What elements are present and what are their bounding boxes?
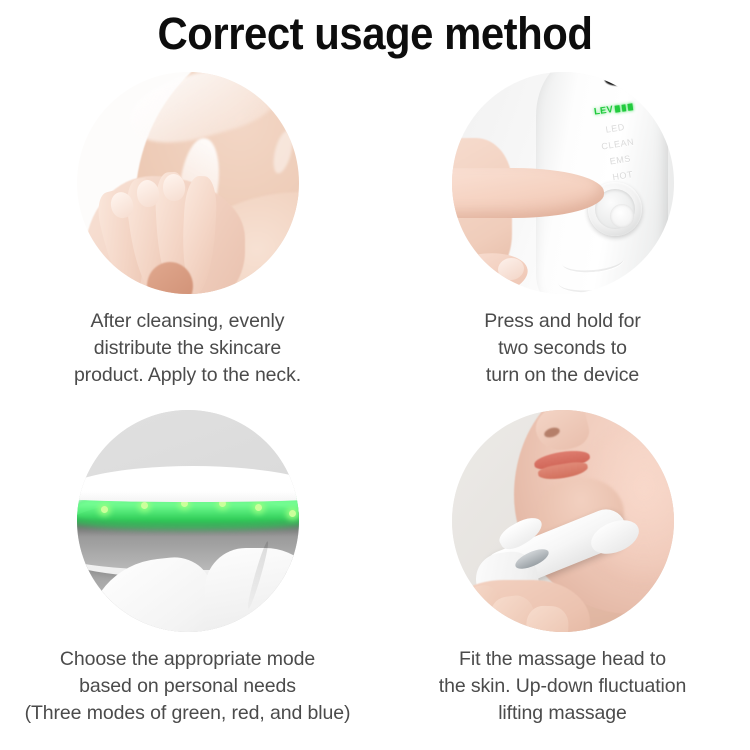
caption-line: distribute the skincare (18, 335, 358, 362)
caption-line: Press and hold for (393, 308, 733, 335)
level-bar-1 (614, 105, 619, 113)
fingernail-3 (162, 173, 185, 201)
caption-line: lifting massage (393, 700, 733, 727)
device-mode-labels: LED CLEAN EMS HOT (579, 115, 658, 189)
caption-line: Choose the appropriate mode (18, 646, 358, 673)
pressing-power-button-photo: LEV LED CLEAN EMS HOT (452, 72, 674, 294)
led-dot-2 (141, 502, 148, 509)
page-title: Correct usage method (26, 6, 724, 62)
step-card-1: After cleansing, evenly distribute the s… (0, 72, 375, 410)
green-led-massage-head-photo (77, 410, 299, 632)
level-bar-2 (621, 104, 626, 112)
massage-head-white-lip (77, 466, 299, 502)
caption-line: Fit the massage head to (393, 646, 733, 673)
step-card-3: Choose the appropriate mode based on per… (0, 410, 375, 748)
power-button-center (610, 204, 634, 228)
step-caption-2: Press and hold for two seconds to turn o… (393, 308, 733, 389)
step-caption-1: After cleansing, evenly distribute the s… (18, 308, 358, 389)
step-card-4: Fit the massage head to the skin. Up-dow… (375, 410, 750, 748)
level-bar-3 (627, 103, 632, 111)
usage-instructions-page: Correct usage method (0, 0, 750, 750)
caption-line: (Three modes of green, red, and blue) (18, 700, 358, 727)
step-caption-3: Choose the appropriate mode based on per… (18, 646, 358, 727)
led-dot-5 (255, 504, 262, 511)
applying-skincare-to-neck-photo (77, 72, 299, 294)
caption-line: two seconds to (393, 335, 733, 362)
caption-line: the skin. Up-down fluctuation (393, 673, 733, 700)
led-dot-1 (101, 506, 108, 513)
caption-line: After cleansing, evenly (18, 308, 358, 335)
caption-line: based on personal needs (18, 673, 358, 700)
caption-line: turn on the device (393, 362, 733, 389)
device-on-jawline-photo (452, 410, 674, 632)
step-caption-4: Fit the massage head to the skin. Up-dow… (393, 646, 733, 727)
led-dot-6 (289, 510, 296, 517)
steps-grid: After cleansing, evenly distribute the s… (0, 72, 750, 748)
step-card-2: LEV LED CLEAN EMS HOT (375, 72, 750, 410)
caption-line: product. Apply to the neck. (18, 362, 358, 389)
